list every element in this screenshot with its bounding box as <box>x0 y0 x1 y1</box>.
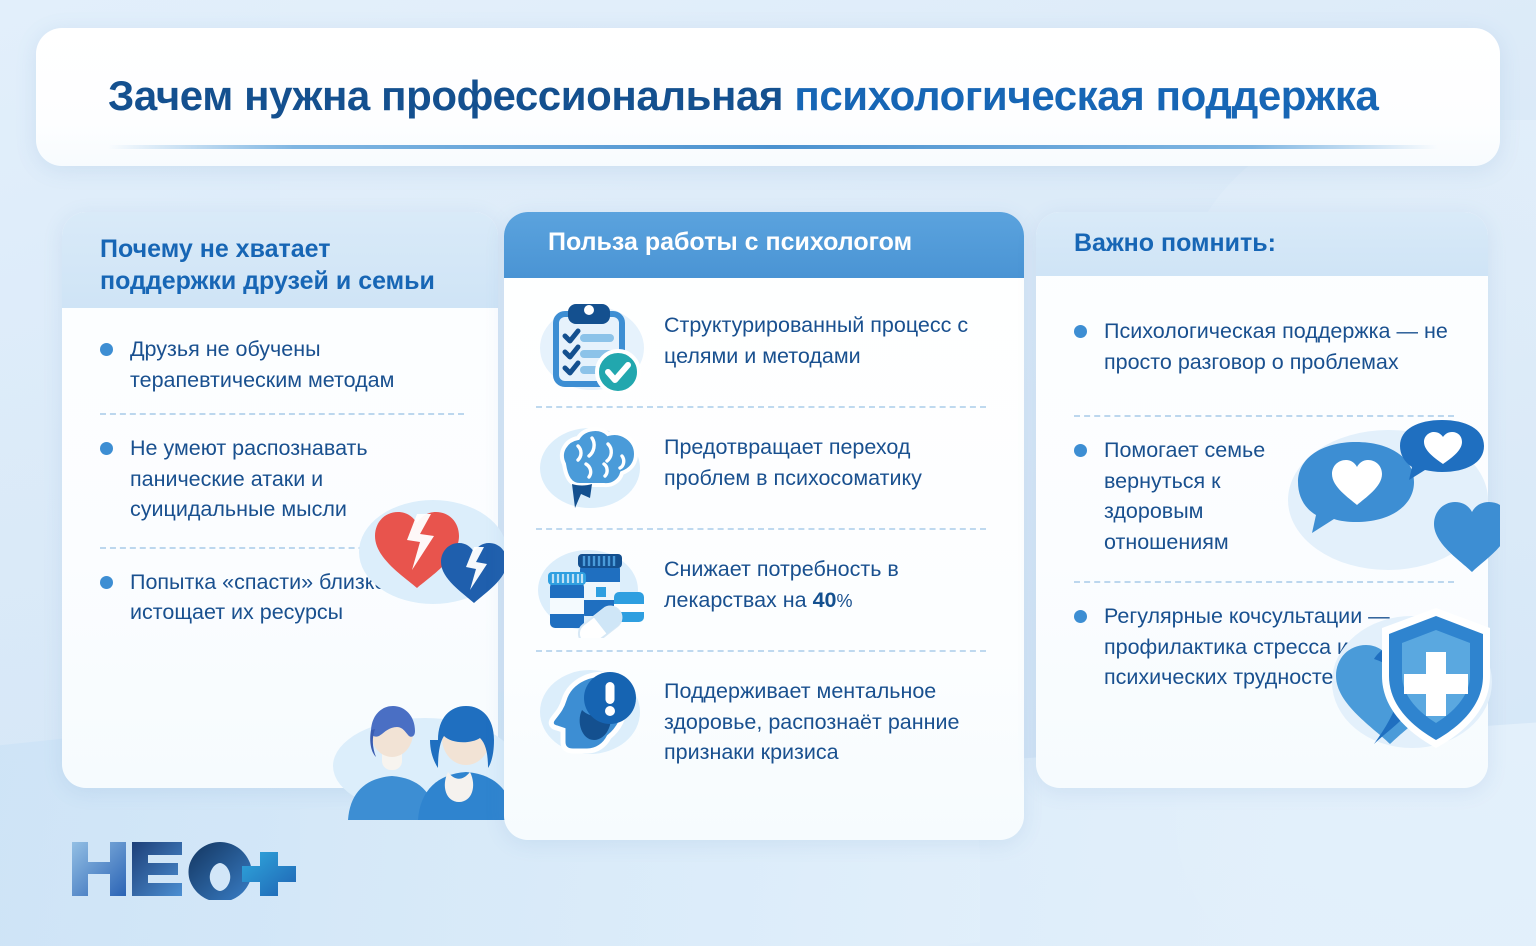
benefit-label: Предотвращает переход проблем в психосом… <box>664 420 1002 493</box>
left-panel-heading: Почему не хватает поддержки друзей и сем… <box>62 212 498 308</box>
benefit-label: Снижает потребность в лекарствах на 40% <box>664 542 1002 615</box>
brand-logo: НЕО+ <box>68 838 298 900</box>
benefit-label: Структурированный процесс с целями и мет… <box>664 298 1002 371</box>
list-item-label: Регулярные кочсультации — профилактика с… <box>1104 601 1410 693</box>
benefit-row: Снижает потребность в лекарствах на 40% <box>530 538 1002 642</box>
panel-benefits-of-psychologist: Польза работы с психологом <box>504 212 1024 840</box>
bullet-dot-icon <box>1074 325 1087 338</box>
benefit-divider <box>536 528 986 530</box>
list-item-label: Не умеют распознавать панические атаки и… <box>130 433 382 525</box>
list-item: Регулярные кочсультации — профилактика с… <box>1074 601 1458 693</box>
infographic-canvas: Зачем нужна профессиональная психологиче… <box>0 0 1536 946</box>
list-item: Друзья не обучены терапевтическим метода… <box>100 334 468 395</box>
panel-important-to-remember: Важно помнить: Психологическая поддержка… <box>1036 212 1488 788</box>
benefit-divider <box>536 406 986 408</box>
benefit-value: 40 <box>813 588 837 612</box>
list-item-label: Попытка «спасти» близкого истощает их ре… <box>130 567 468 628</box>
list-item-label: Друзья не обучены терапевтическим метода… <box>130 334 468 395</box>
medicine-bottles-icon <box>536 542 648 638</box>
list-divider <box>100 547 464 549</box>
bullet-dot-icon <box>100 442 113 455</box>
bullet-dot-icon <box>100 343 113 356</box>
bullet-dot-icon <box>100 576 113 589</box>
left-panel-heading-line1: Почему не хватает <box>100 234 472 266</box>
header-card: Зачем нужна профессиональная психологиче… <box>36 28 1500 166</box>
list-divider <box>1074 581 1454 583</box>
benefit-unit: % <box>836 591 852 611</box>
benefit-divider <box>536 650 986 652</box>
benefit-row: Поддерживает ментальное здоровье, распоз… <box>530 660 1002 772</box>
panel-why-friends-not-enough: Почему не хватает поддержки друзей и сем… <box>62 212 498 788</box>
list-item: Помогает семье вернуться к здоровым отно… <box>1074 435 1458 557</box>
left-panel-heading-line2: поддержки друзей и семьи <box>100 266 472 298</box>
page-title: Зачем нужна профессиональная психологиче… <box>108 72 1438 120</box>
page-title-part2: психологическая поддержка <box>794 72 1378 119</box>
list-item: Попытка «спасти» близкого истощает их ре… <box>100 567 468 628</box>
benefit-label-prefix: Снижает потребность в лекарствах на <box>664 557 899 612</box>
right-panel-body: Психологическая поддержка — не просто ра… <box>1036 276 1488 693</box>
page-title-part1: Зачем нужна профессиональная <box>108 72 794 119</box>
head-alert-icon <box>536 664 648 760</box>
list-item-label: Психологическая поддержка — не просто ра… <box>1104 316 1458 377</box>
clipboard-checklist-icon <box>536 298 648 394</box>
list-divider <box>100 413 464 415</box>
left-panel-body: Друзья не обучены терапевтическим метода… <box>62 308 498 628</box>
middle-panel-heading: Польза работы с психологом <box>504 212 1024 278</box>
bullet-dot-icon <box>1074 610 1087 623</box>
benefit-row: Предотвращает переход проблем в психосом… <box>530 416 1002 520</box>
middle-panel-body: Структурированный процесс с целями и мет… <box>504 278 1024 772</box>
list-item: Не умеют распознавать панические атаки и… <box>100 433 468 525</box>
benefit-row: Структурированный процесс с целями и мет… <box>530 294 1002 398</box>
brain-icon <box>536 420 648 516</box>
list-divider <box>1074 415 1454 417</box>
list-item-label: Помогает семье вернуться к здоровым отно… <box>1104 435 1290 557</box>
benefit-label: Поддерживает ментальное здоровье, распоз… <box>664 664 976 768</box>
title-underline-rule <box>108 145 1438 149</box>
right-panel-heading: Важно помнить: <box>1036 212 1488 276</box>
list-item: Психологическая поддержка — не просто ра… <box>1074 316 1458 377</box>
bullet-dot-icon <box>1074 444 1087 457</box>
